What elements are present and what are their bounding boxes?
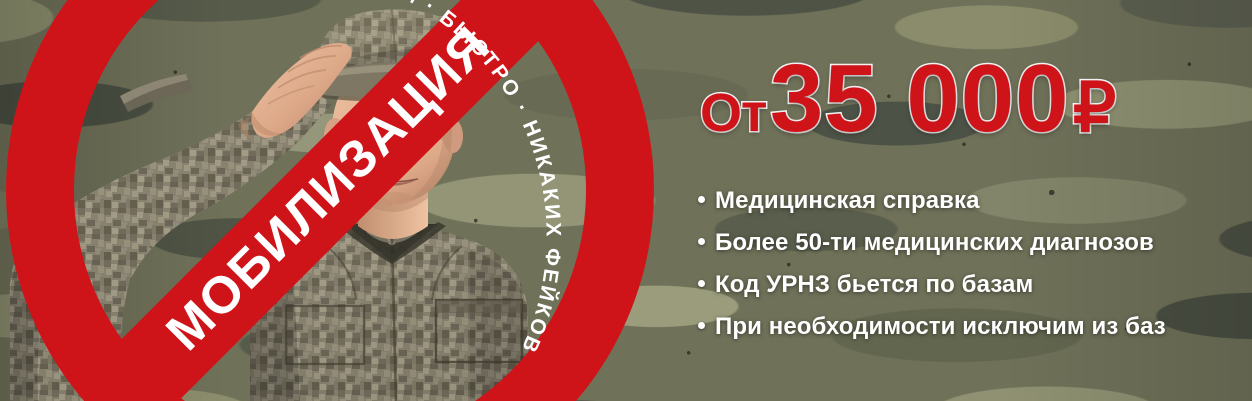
list-item: Код УРНЗ бьется по базам <box>698 270 1252 312</box>
price-currency: ₽ <box>1073 70 1115 146</box>
feature-text: Медицинская справка <box>715 186 980 216</box>
feature-text: Код УРНЗ бьется по базам <box>715 270 1033 300</box>
feature-text: При необходимости исключим из баз <box>715 312 1166 342</box>
promo-banner: МОБИЛИЗАЦИЯ БЕЗ ПОСЕЩЕНИЙ · БЫСТРО · НИК… <box>0 0 1252 401</box>
feature-text: Более 50-ти медицинских диагнозов <box>715 228 1154 258</box>
prohibition-stamp: МОБИЛИЗАЦИЯ БЕЗ ПОСЕЩЕНИЙ · БЫСТРО · НИК… <box>0 0 700 401</box>
price-amount: 35 000 <box>770 45 1070 152</box>
bullet-dot-icon <box>698 280 705 287</box>
list-item: При необходимости исключим из баз <box>698 312 1252 354</box>
list-item: Медицинская справка <box>698 186 1252 228</box>
offer-panel: От 35 000 ₽ Медицинская справка Более 50… <box>690 0 1252 401</box>
prohibition-slash: МОБИЛИЗАЦИЯ <box>81 0 579 401</box>
price-prefix: От <box>700 83 766 143</box>
bullet-dot-icon <box>698 322 705 329</box>
list-item: Более 50-ти медицинских диагнозов <box>698 228 1252 270</box>
bullet-dot-icon <box>698 238 705 245</box>
diagonal-label: МОБИЛИЗАЦИЯ <box>155 15 501 361</box>
feature-list: Медицинская справка Более 50-ти медицинс… <box>698 186 1252 354</box>
price-headline: От 35 000 ₽ <box>700 44 1115 154</box>
bullet-dot-icon <box>698 196 705 203</box>
